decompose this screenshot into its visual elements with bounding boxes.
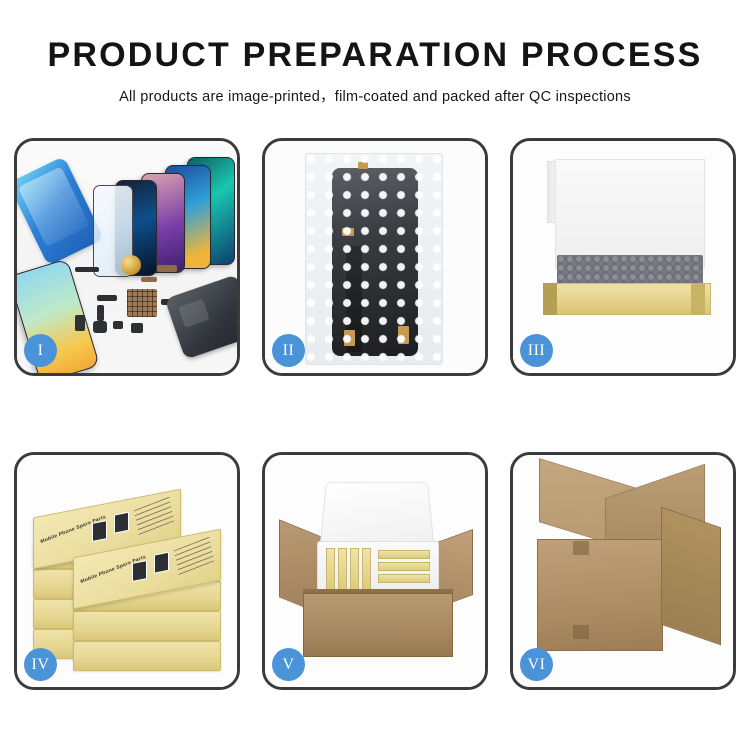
tape-top [358, 162, 368, 169]
step-badge-6: VI [520, 648, 553, 681]
inner-box-2 [338, 548, 347, 590]
page-title: PRODUCT PREPARATION PROCESS [0, 38, 750, 74]
box-label-image-d [154, 552, 169, 574]
inner-box-4 [362, 548, 371, 590]
step-badge-4: IV [24, 648, 57, 681]
product-preparation-process-page: PRODUCT PREPARATION PROCESS All products… [0, 0, 750, 750]
carton-front [537, 539, 663, 651]
step-panel-2: II [262, 138, 488, 376]
yellow-box-side-left [543, 283, 557, 315]
small-flex-part [141, 277, 157, 282]
yellow-box-side-right [691, 283, 705, 315]
box-stack: Mobile Phone Spare Parts Mobile Phone Sp… [29, 477, 229, 673]
phone-back-shell [165, 274, 237, 359]
inner-box-1 [326, 548, 335, 590]
inner-box-7 [378, 574, 430, 583]
box-label-image-c [132, 560, 147, 582]
bubble-wrapped-contents [557, 255, 703, 285]
speaker-mesh-part [75, 267, 99, 272]
stacked-box-front-3 [73, 641, 221, 671]
box-label-image-a [92, 520, 107, 542]
flex-connector-part [157, 265, 177, 272]
ic-chip-grid [127, 289, 157, 317]
stacked-box-front-2 [73, 611, 221, 641]
step-badge-3: III [520, 334, 553, 367]
foam-lid-panel [555, 159, 705, 269]
camera-ring-part [121, 255, 141, 275]
tape-bottom-left [344, 330, 355, 346]
box-label-image-b [114, 512, 129, 534]
foam-box-lid [320, 482, 434, 545]
blue-protective-film [17, 156, 104, 266]
step-panel-4: Mobile Phone Spare Parts Mobile Phone Sp… [14, 452, 240, 690]
box-label-text-lines-front [174, 537, 214, 575]
carton-tape-upper [573, 541, 589, 555]
screw-set-part [113, 321, 123, 329]
tape-middle [342, 228, 354, 236]
tape-bottom-right [398, 326, 409, 344]
screwdriver-tool [230, 369, 237, 373]
connector-part [97, 305, 104, 321]
step-panel-5: V [262, 452, 488, 690]
carton-side [661, 507, 721, 646]
inner-box-3 [350, 548, 359, 590]
carton-tape-lower [573, 625, 589, 639]
step-panel-6: VI [510, 452, 736, 690]
battery-part [75, 315, 85, 331]
carton-front-face [303, 593, 453, 657]
box-label-text-lines-back [134, 497, 174, 535]
bubble-wrap-bag [305, 153, 443, 365]
page-subtitle: All products are image-printed，film-coat… [0, 85, 750, 106]
step-badge-1: I [24, 334, 57, 367]
spare-parts-group [69, 259, 237, 371]
yellow-box-front [543, 283, 711, 315]
step-badge-2: II [272, 334, 305, 367]
flex-cable-part [97, 295, 117, 301]
inner-box-5 [378, 550, 430, 559]
process-steps-grid: I II [14, 138, 736, 690]
bracket-part [131, 323, 143, 333]
step-badge-5: V [272, 648, 305, 681]
step-panel-1: I [14, 138, 240, 376]
step-panel-3: III [510, 138, 736, 376]
header: PRODUCT PREPARATION PROCESS All products… [0, 0, 750, 106]
vibrator-part [93, 321, 107, 333]
inner-box-6 [378, 562, 430, 571]
